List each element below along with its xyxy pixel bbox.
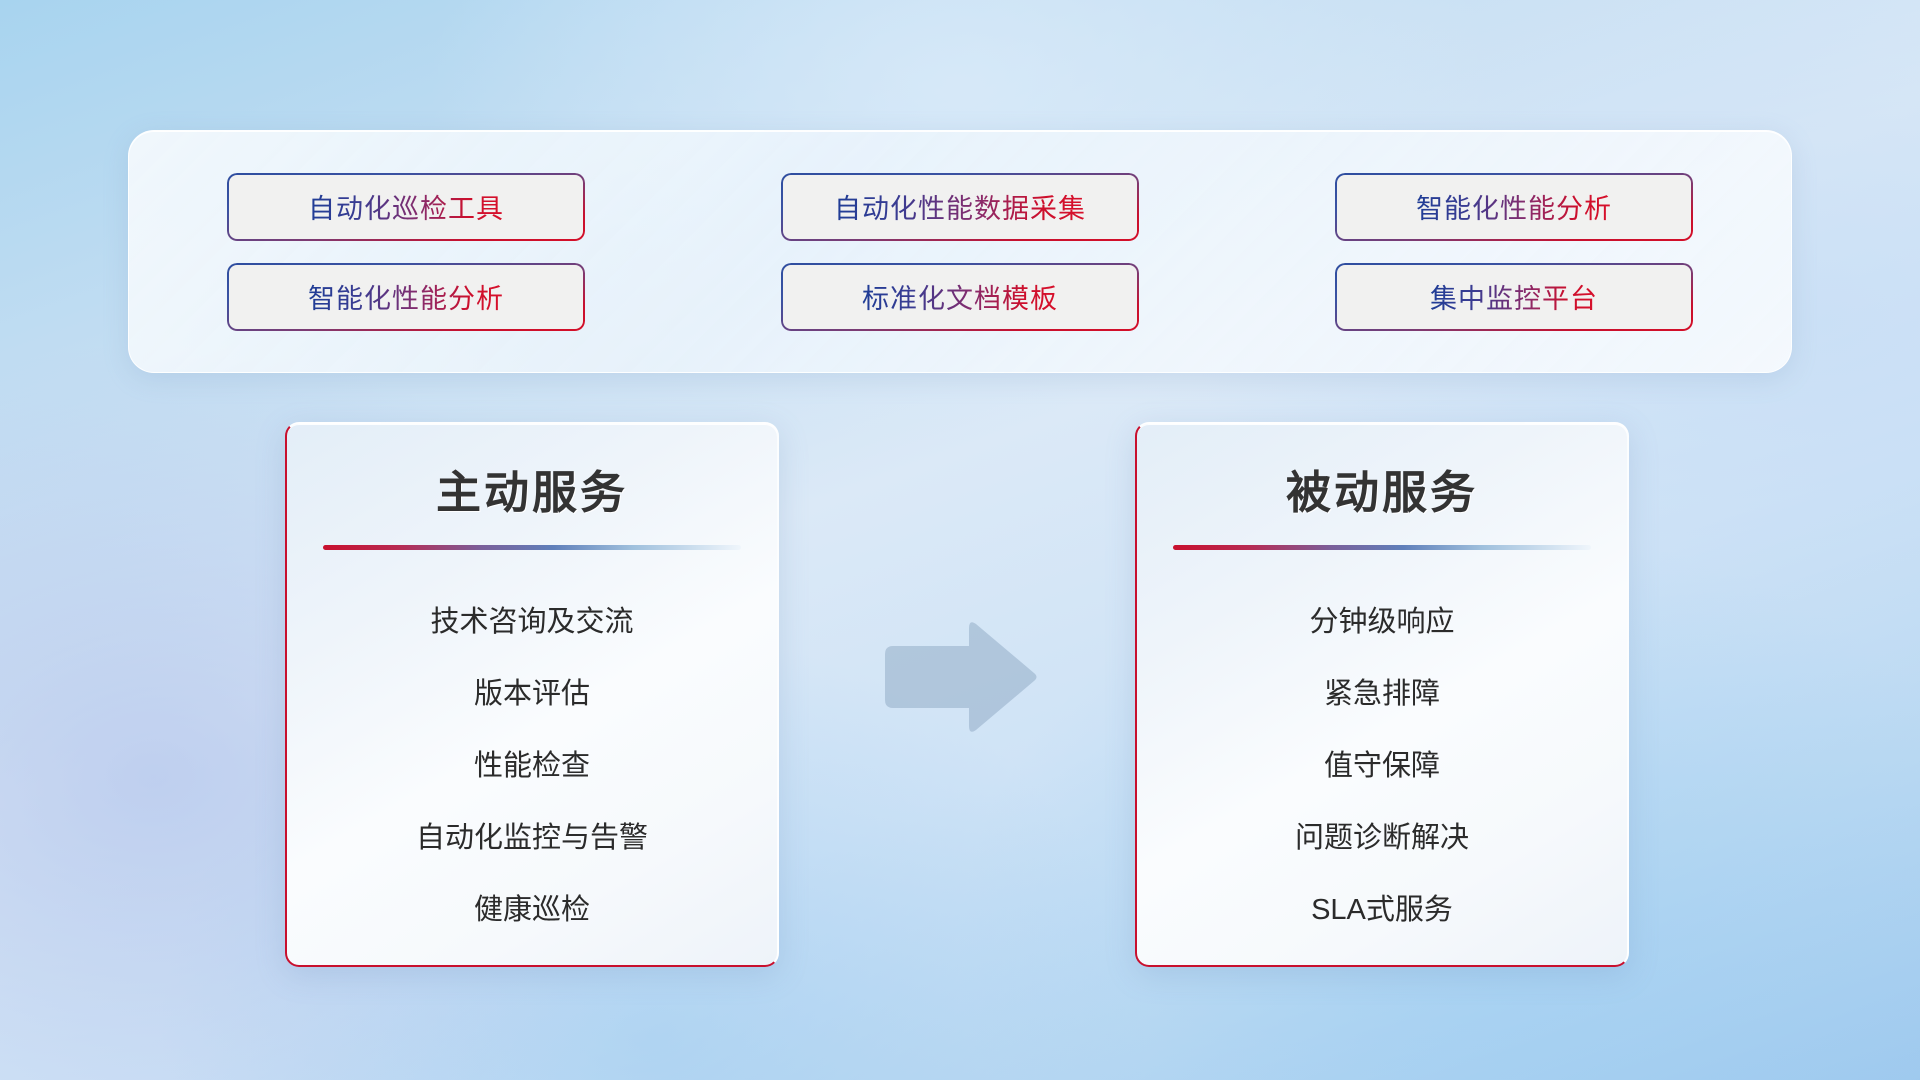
tag-label: 自动化性能数据采集 [834,187,1086,226]
tag-chip[interactable]: 智能化性能分析 [227,263,585,331]
service-card-reactive: 被动服务 分钟级响应 紧急排障 值守保障 问题诊断解决 SLA式服务 [1135,422,1629,967]
tag-label: 标准化文档模板 [862,277,1058,316]
tag-label: 智能化性能分析 [308,277,504,316]
list-item: 问题诊断解决 [1165,802,1599,874]
tag-label: 自动化巡检工具 [308,187,504,226]
tag-chip[interactable]: 智能化性能分析 [1335,173,1693,241]
list-item: 版本评估 [315,658,749,730]
tag-label: 智能化性能分析 [1416,187,1612,226]
tag-row-2: 智能化性能分析 标准化文档模板 集中监控平台 [227,263,1693,331]
list-item: 自动化监控与告警 [315,802,749,874]
tag-label: 集中监控平台 [1430,277,1598,316]
list-item: 健康巡检 [315,874,749,946]
list-item: 紧急排障 [1165,658,1599,730]
slide-canvas: 自动化巡检工具 自动化性能数据采集 智能化性能分析 智能化性能分析 标准化文档模… [0,0,1920,1080]
card-item-list: 技术咨询及交流 版本评估 性能检查 自动化监控与告警 健康巡检 [315,586,749,946]
card-title: 被动服务 [1165,456,1599,521]
capability-tag-panel: 自动化巡检工具 自动化性能数据采集 智能化性能分析 智能化性能分析 标准化文档模… [128,130,1792,373]
tag-row-1: 自动化巡检工具 自动化性能数据采集 智能化性能分析 [227,173,1693,241]
tag-chip[interactable]: 标准化文档模板 [781,263,1139,331]
list-item: 技术咨询及交流 [315,586,749,658]
list-item: 分钟级响应 [1165,586,1599,658]
list-item: SLA式服务 [1165,874,1599,946]
service-card-proactive: 主动服务 技术咨询及交流 版本评估 性能检查 自动化监控与告警 健康巡检 [285,422,779,967]
tag-chip[interactable]: 自动化巡检工具 [227,173,585,241]
list-item: 性能检查 [315,730,749,802]
tag-chip[interactable]: 集中监控平台 [1335,263,1693,331]
card-title: 主动服务 [315,456,749,521]
card-divider [323,545,741,550]
arrow-right-icon [877,620,1037,738]
card-divider [1173,545,1591,550]
tag-chip[interactable]: 自动化性能数据采集 [781,173,1139,241]
card-item-list: 分钟级响应 紧急排障 值守保障 问题诊断解决 SLA式服务 [1165,586,1599,946]
list-item: 值守保障 [1165,730,1599,802]
